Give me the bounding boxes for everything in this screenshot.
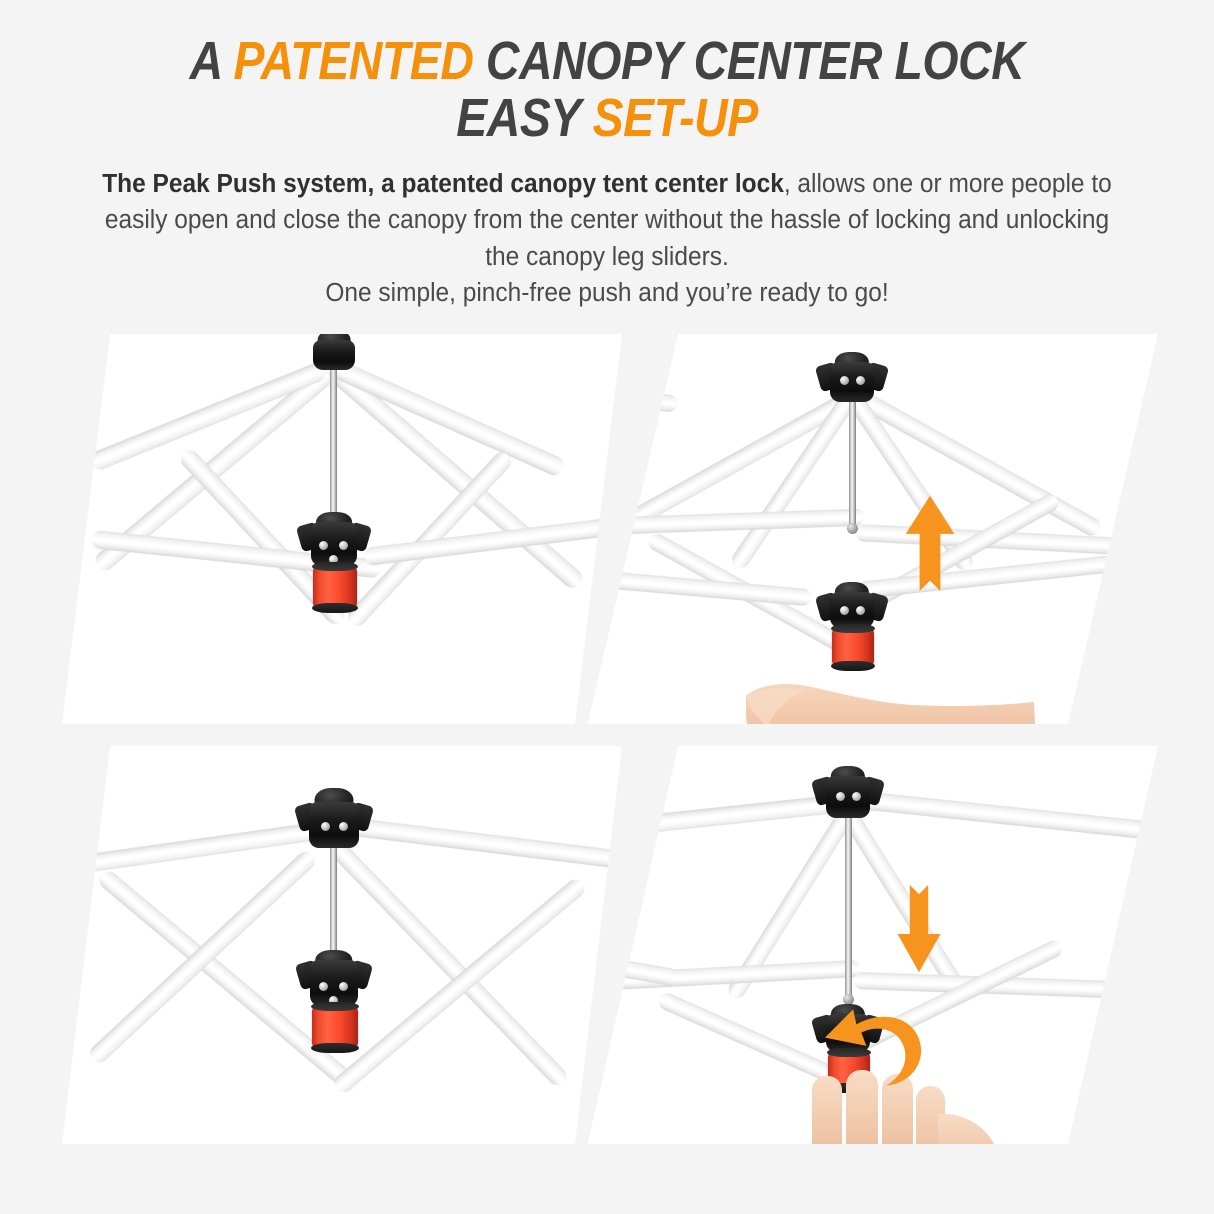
hub-body-icon	[313, 340, 355, 370]
description-paragraph: The Peak Push system, a patented canopy …	[94, 166, 1119, 311]
panel-1-stage	[62, 334, 622, 724]
rivet-icon	[852, 792, 861, 801]
center-lock-hub-icon	[311, 522, 357, 566]
product-panel-1-collapsed	[62, 334, 622, 724]
title-text-easy: EASY	[456, 88, 592, 148]
red-center-lock	[312, 1006, 358, 1048]
arrow-up-icon	[904, 494, 956, 598]
panel-4-stage	[538, 746, 1158, 1144]
rivet-icon	[339, 822, 348, 831]
rivet-icon	[339, 982, 348, 991]
arrow-rotate-icon	[810, 1004, 926, 1096]
rafter-tube	[324, 360, 586, 591]
description-closing-line: One simple, pinch-free push and you’re r…	[325, 279, 888, 307]
hub-body-icon	[830, 592, 874, 628]
page-title-line-2: EASY SET-UP	[85, 91, 1129, 146]
title-highlight-patented: PATENTED	[234, 31, 474, 91]
title-highlight-setup: SET-UP	[593, 88, 758, 148]
peak-hub-icon	[830, 362, 874, 402]
rivet-icon	[339, 541, 348, 550]
rivet-icon	[319, 541, 328, 550]
rafter-tube	[337, 816, 622, 870]
page-title-line-1: A PATENTED CANOPY CENTER LOCK	[85, 34, 1129, 89]
title-text-canopy-center-lock: CANOPY CENTER LOCK	[473, 31, 1024, 91]
peak-hub-icon	[313, 340, 355, 370]
header: A PATENTED CANOPY CENTER LOCK EASY SET-U…	[0, 0, 1214, 311]
rivet-icon	[319, 982, 328, 991]
truss-tube	[596, 509, 864, 535]
rivet-icon	[856, 606, 865, 615]
hub-body-icon	[309, 802, 359, 848]
arrow-down-icon	[896, 874, 942, 974]
center-rod	[330, 842, 337, 966]
center-rod	[330, 358, 337, 518]
hub-body-icon	[826, 776, 870, 818]
rivet-icon	[840, 376, 849, 385]
description-bold-lead: The Peak Push system, a patented canopy …	[102, 170, 784, 198]
rivet-icon	[836, 792, 845, 801]
panel-3-stage	[62, 746, 622, 1144]
peak-hub-icon	[309, 802, 359, 848]
rafter-tube	[849, 790, 1149, 839]
hub-body-icon	[830, 362, 874, 402]
rivet-icon	[856, 376, 865, 385]
title-text-a: A	[190, 31, 234, 91]
peak-hub-icon	[826, 776, 870, 818]
red-center-lock	[313, 566, 357, 608]
rivet-icon	[840, 606, 849, 615]
center-lock-hub-icon	[830, 592, 874, 628]
panel-2-stage	[538, 334, 1158, 724]
center-rod-tip-icon	[847, 523, 858, 534]
center-rod	[849, 394, 856, 529]
product-panel-2-push-up	[538, 334, 1158, 724]
product-panel-4-release-close	[538, 746, 1158, 1144]
center-rod	[845, 810, 852, 1000]
product-panel-3-locked-open	[62, 746, 622, 1144]
panel-grid	[0, 322, 1214, 1214]
center-lock-hub-icon	[310, 960, 358, 1006]
rivet-icon	[321, 822, 330, 831]
hand-open-palm-icon	[738, 654, 1038, 724]
